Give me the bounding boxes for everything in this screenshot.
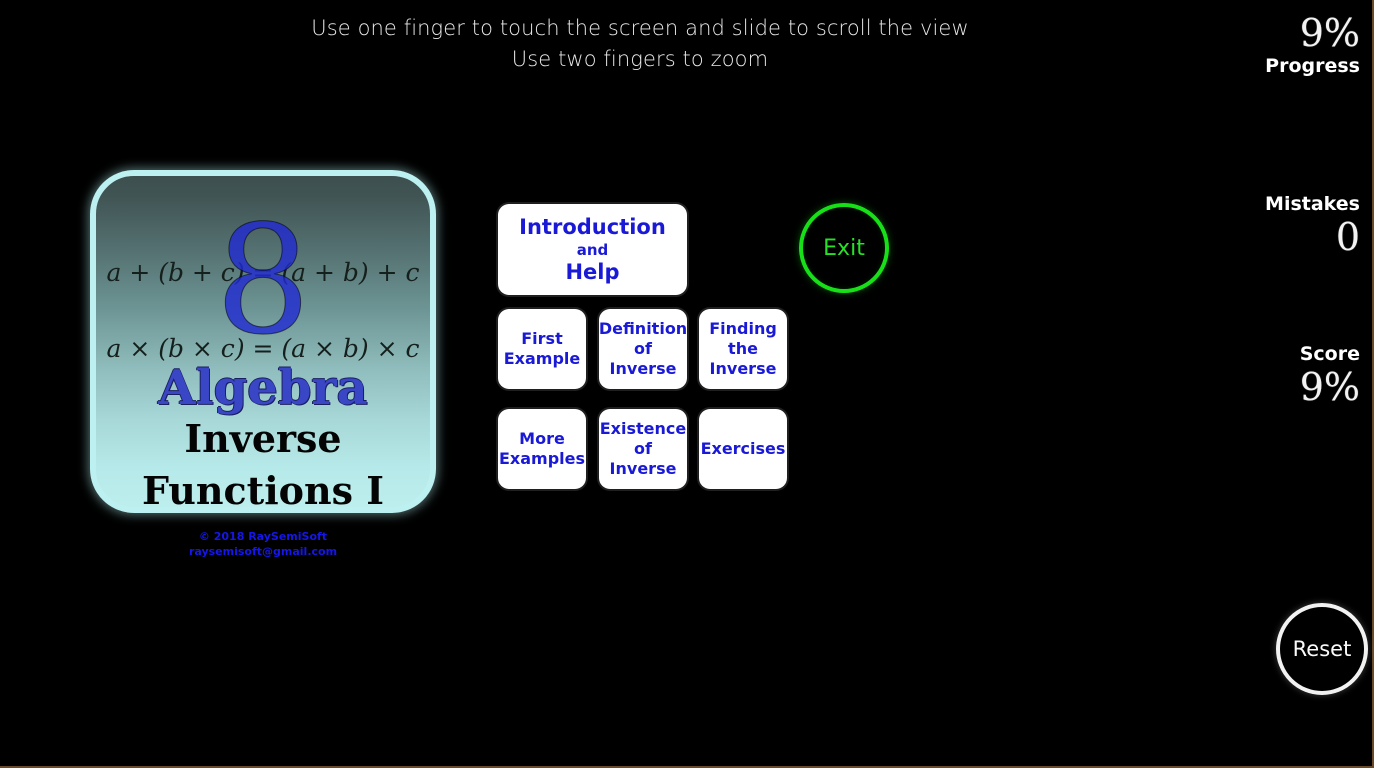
first-example-label-1: First	[521, 329, 562, 349]
first-example-button[interactable]: First Example	[498, 309, 586, 389]
chapter-number-watermark: 8	[96, 206, 430, 356]
definition-of-inverse-button[interactable]: Definition of Inverse	[599, 309, 687, 389]
instructions-text: Use one finger to touch the screen and s…	[0, 13, 1280, 75]
finding-label-1: Finding	[709, 319, 777, 339]
card-subject: Algebra	[96, 361, 430, 415]
stat-score: Score 9%	[1200, 342, 1360, 408]
progress-value: 9%	[1200, 12, 1360, 54]
existence-label-3: Inverse	[610, 459, 677, 479]
copyright-email: raysemisoft@gmail.com	[90, 544, 436, 559]
exit-button[interactable]: Exit	[799, 203, 889, 293]
copyright-line-1: © 2018 RaySemiSoft	[90, 529, 436, 544]
existence-label-2: of	[634, 439, 652, 459]
stat-mistakes: Mistakes 0	[1200, 192, 1360, 258]
reset-button[interactable]: Reset	[1276, 603, 1368, 695]
exercises-button[interactable]: Exercises	[699, 409, 787, 489]
existence-label-1: Existence	[600, 419, 686, 439]
first-example-label-2: Example	[504, 349, 581, 369]
intro-label-line-2: and	[577, 240, 609, 260]
intro-label-line-1: Introduction	[519, 215, 666, 240]
definition-label-3: Inverse	[610, 359, 677, 379]
definition-label-1: Definition	[599, 319, 687, 339]
finding-the-inverse-button[interactable]: Finding the Inverse	[699, 309, 787, 389]
intro-label-line-3: Help	[565, 260, 619, 285]
existence-of-inverse-button[interactable]: Existence of Inverse	[599, 409, 687, 489]
progress-label: Progress	[1200, 54, 1360, 78]
mistakes-label: Mistakes	[1200, 192, 1360, 216]
more-examples-label-1: More	[519, 429, 565, 449]
introduction-and-help-button[interactable]: Introduction and Help	[498, 204, 687, 295]
finding-label-3: Inverse	[710, 359, 777, 379]
definition-label-2: of	[634, 339, 652, 359]
copyright-notice: © 2018 RaySemiSoft raysemisoft@gmail.com	[90, 529, 436, 559]
score-label: Score	[1200, 342, 1360, 366]
more-examples-button[interactable]: More Examples	[498, 409, 586, 489]
finding-label-2: the	[728, 339, 758, 359]
more-examples-label-2: Examples	[499, 449, 585, 469]
reset-label: Reset	[1293, 637, 1352, 661]
instruction-line-1: Use one finger to touch the screen and s…	[0, 13, 1280, 44]
title-card[interactable]: a + (b + c) = (a + b) + c a × (b × c) = …	[90, 170, 436, 513]
score-value: 9%	[1200, 366, 1360, 408]
card-title: Inverse Functions I	[96, 413, 430, 513]
exit-label: Exit	[823, 236, 865, 261]
mistakes-value: 0	[1200, 216, 1360, 258]
stat-progress: 9% Progress	[1200, 12, 1360, 78]
instruction-line-2: Use two fingers to zoom	[0, 44, 1280, 75]
exercises-label: Exercises	[701, 439, 786, 459]
